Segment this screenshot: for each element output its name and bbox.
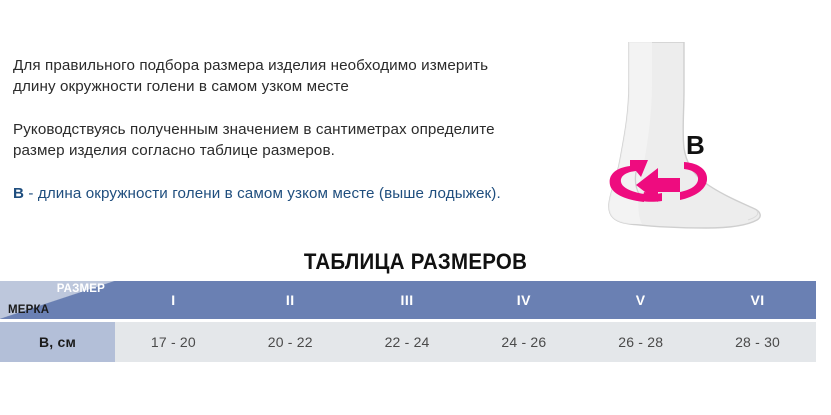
- instruction-paragraph-3: B - длина окружности голени в самом узко…: [13, 183, 513, 204]
- instructions-block: Для правильного подбора размера изделия …: [13, 55, 513, 204]
- figure-label-b: B: [686, 130, 705, 161]
- cell-size-5: 26 - 28: [582, 322, 699, 362]
- leg-silhouette-shape: [609, 42, 760, 228]
- measurement-description: - длина окружности голени в самом узком …: [24, 185, 501, 202]
- cell-size-3: 22 - 24: [349, 322, 466, 362]
- cell-size-2: 20 - 22: [232, 322, 349, 362]
- table-header-row: РАЗМЕР МЕРКА I II III IV V VI: [0, 281, 816, 319]
- leg-measurement-illustration: [596, 42, 821, 257]
- size-table-title: ТАБЛИЦА РАЗМЕРОВ: [29, 249, 802, 275]
- measurement-marker-b: B: [13, 185, 24, 202]
- instruction-paragraph-2: Руководствуясь полученным значением в са…: [13, 119, 513, 161]
- corner-size-label: РАЗМЕР: [57, 283, 105, 295]
- size-table: РАЗМЕР МЕРКА I II III IV V VI В, см 17 -…: [0, 281, 816, 362]
- column-header-4: IV: [465, 281, 582, 319]
- cell-size-6: 28 - 30: [699, 322, 816, 362]
- column-header-5: V: [582, 281, 699, 319]
- column-header-2: II: [232, 281, 349, 319]
- column-header-6: VI: [699, 281, 816, 319]
- table-corner-cell: РАЗМЕР МЕРКА: [0, 281, 115, 319]
- column-header-3: III: [349, 281, 466, 319]
- table-row: В, см 17 - 20 20 - 22 22 - 24 24 - 26 26…: [0, 322, 816, 362]
- row-label-circumference: В, см: [0, 322, 115, 362]
- cell-size-1: 17 - 20: [115, 322, 232, 362]
- column-header-1: I: [115, 281, 232, 319]
- cell-size-4: 24 - 26: [465, 322, 582, 362]
- corner-measure-label: МЕРКА: [8, 304, 49, 316]
- instruction-paragraph-1: Для правильного подбора размера изделия …: [13, 55, 513, 97]
- size-table-grid: РАЗМЕР МЕРКА I II III IV V VI В, см 17 -…: [0, 281, 816, 362]
